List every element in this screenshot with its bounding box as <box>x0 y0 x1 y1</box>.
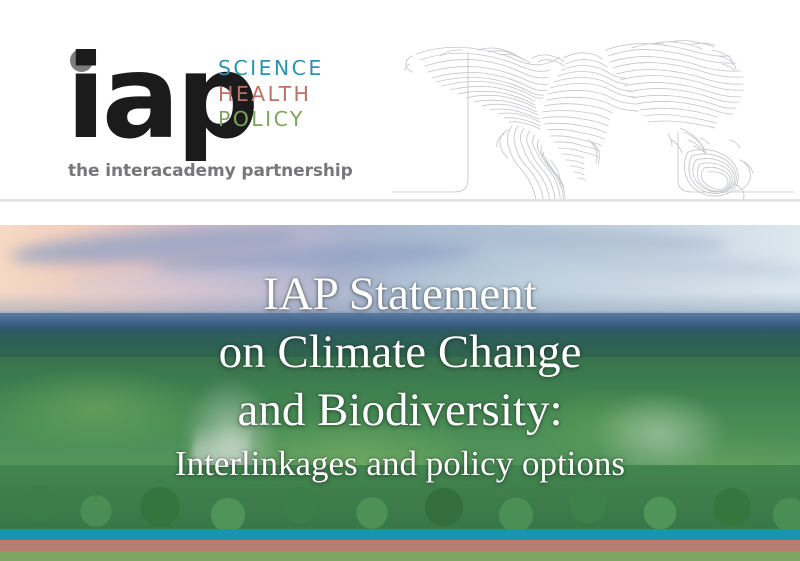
report-cover-page: iap SCIENCE HEALTH POLICY the interacade… <box>0 0 800 561</box>
cloud <box>380 274 720 293</box>
stripe-policy-green <box>0 551 800 561</box>
sky-layer <box>0 225 800 318</box>
canopy-foreground <box>0 465 800 529</box>
stripe-health-terracotta <box>0 540 800 551</box>
world-map-icon <box>392 22 794 200</box>
logo-pillar-health: HEALTH <box>218 82 324 108</box>
stripe-science-teal <box>0 529 800 540</box>
cloud <box>0 289 380 300</box>
header-divider <box>0 199 800 202</box>
logo-pillars: SCIENCE HEALTH POLICY <box>218 56 324 133</box>
logo-row: iap SCIENCE HEALTH POLICY <box>66 44 396 156</box>
logo-pillar-policy: POLICY <box>218 107 324 133</box>
logo-pillar-science: SCIENCE <box>218 56 324 82</box>
logo-tagline: the interacademy partnership <box>68 161 353 181</box>
header-band: iap SCIENCE HEALTH POLICY the interacade… <box>0 0 800 225</box>
iap-logo[interactable]: iap SCIENCE HEALTH POLICY the interacade… <box>66 44 396 194</box>
footer-stripes <box>0 529 800 561</box>
hero-image <box>0 225 800 529</box>
